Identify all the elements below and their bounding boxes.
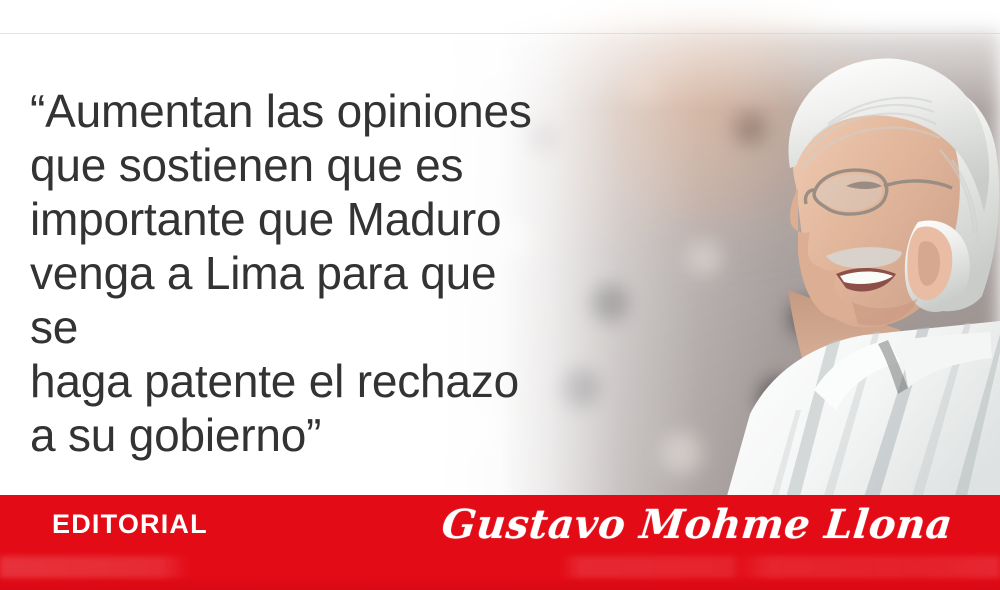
footer-sheen bbox=[0, 556, 1000, 578]
quote-text: “Aumentan las opiniones que sostienen qu… bbox=[30, 84, 550, 462]
author-signature: Gustavo Mohme Llona bbox=[439, 501, 954, 549]
footer-bottom-shade bbox=[0, 576, 1000, 590]
author-portrait-image bbox=[600, 0, 1000, 535]
section-label-editorial: EDITORIAL bbox=[52, 508, 208, 540]
editorial-banner: “Aumentan las opiniones que sostienen qu… bbox=[0, 0, 1000, 590]
